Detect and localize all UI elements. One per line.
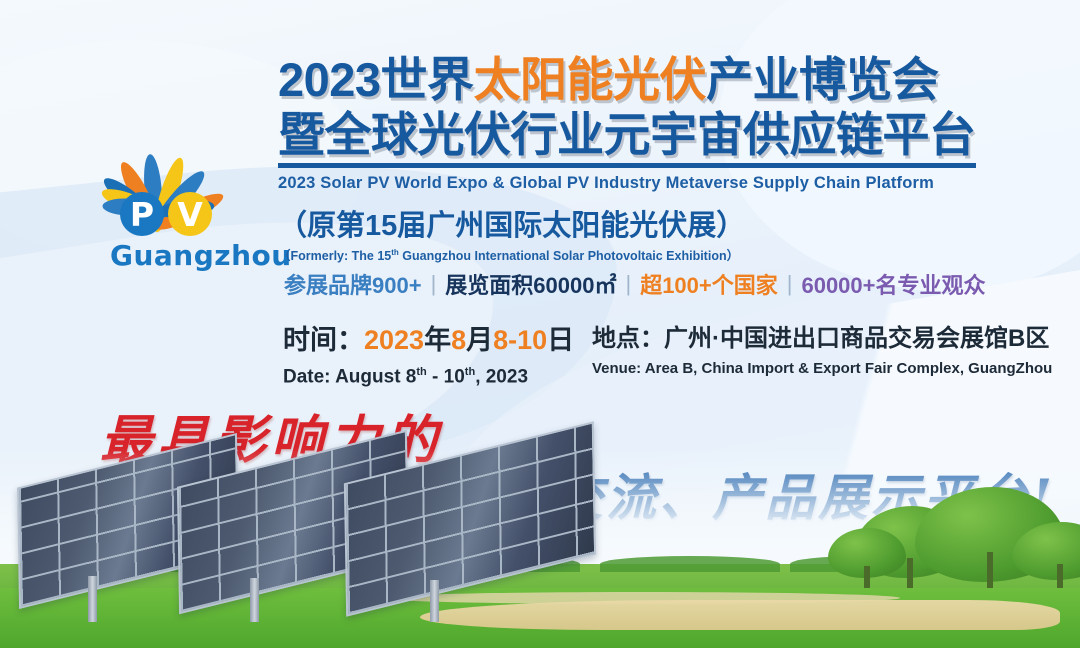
date-en-ordinal-1: th xyxy=(416,366,426,378)
date-en-mid: - 10 xyxy=(427,366,465,387)
former-name-chinese: （原第15届广州国际太阳能光伏展） xyxy=(278,202,1050,244)
logo-letter-v: V xyxy=(168,192,212,236)
tree-trunk xyxy=(907,558,913,592)
title-line-1-part-3: 产业博览会 xyxy=(706,53,939,106)
stat-area: 展览面积60000㎡ xyxy=(445,268,616,300)
subtitle-english: 2023 Solar PV World Expo & Global PV Ind… xyxy=(278,174,1050,193)
pv-guangzhou-logo: P V Guangzhou xyxy=(38,42,288,242)
tree-4 xyxy=(828,516,906,592)
date-english: Date: August 8th - 10th, 2023 xyxy=(283,359,574,390)
venue-chinese: 地点：广州·中国进出口商品交易会展馆B区 xyxy=(592,323,1052,355)
stat-separator-1: | xyxy=(431,271,437,297)
stat-visitors: 60000+名专业观众 xyxy=(801,268,985,300)
date-day-unit: 日 xyxy=(547,325,574,355)
former-name-english: （Formerly: The 15th Guangzhou Internatio… xyxy=(278,245,1050,264)
stat-countries: 超100+个国家 xyxy=(640,268,778,300)
date-year: 2023 xyxy=(364,325,424,355)
former-en-post: Guangzhou International Solar Photovolta… xyxy=(399,249,739,263)
panel-post xyxy=(88,576,97,622)
date-chinese: 时间：2023年8月8-10日 xyxy=(283,323,574,357)
date-label: 时间： xyxy=(283,325,364,355)
date-days: 8-10 xyxy=(493,325,547,355)
date-en-ordinal-2: th xyxy=(465,366,475,378)
stat-separator-2: | xyxy=(625,271,631,297)
logo-city-label: Guangzhou xyxy=(110,239,292,272)
stat-brands: 参展品牌900+ xyxy=(284,268,422,300)
hedge-3 xyxy=(600,556,780,572)
venue-english: Venue: Area B, China Import & Export Fai… xyxy=(592,358,1052,380)
date-month-unit: 月 xyxy=(466,325,493,355)
venue-value-chinese: 广州·中国进出口商品交易会展馆B区 xyxy=(664,325,1049,352)
title-line-1-part-1: 2023世界 xyxy=(278,53,474,106)
tree-crown xyxy=(1012,522,1080,580)
headline-block: 2023世界太阳能光伏产业博览会 暨全球光伏行业元宇宙供应链平台 2023 So… xyxy=(278,52,1050,264)
date-block: 时间：2023年8月8-10日 Date: August 8th - 10th,… xyxy=(283,323,574,390)
date-month: 8 xyxy=(451,325,466,355)
former-en-pre: （Formerly: The 15 xyxy=(278,249,391,263)
date-en-post: , 2023 xyxy=(475,366,528,387)
venue-block: 地点：广州·中国进出口商品交易会展馆B区 Venue: Area B, Chin… xyxy=(592,323,1052,380)
venue-label: 地点： xyxy=(592,325,664,352)
date-year-unit: 年 xyxy=(424,325,451,355)
stats-row: 参展品牌900+ | 展览面积60000㎡ | 超100+个国家 | 60000… xyxy=(284,268,986,300)
title-line-2: 暨全球光伏行业元宇宙供应链平台 xyxy=(278,107,976,168)
scenery-illustration xyxy=(0,448,1080,648)
stat-separator-3: | xyxy=(787,271,793,297)
date-en-pre: Date: August 8 xyxy=(283,366,416,387)
panel-post xyxy=(250,578,259,622)
expo-promo-banner: P V Guangzhou 2023世界太阳能光伏产业博览会 暨全球光伏行业元宇… xyxy=(0,0,1080,648)
title-line-1: 2023世界太阳能光伏产业博览会 xyxy=(278,52,1050,107)
pv-lettermark: P V xyxy=(120,192,212,236)
dirt-path xyxy=(420,600,1060,630)
tree-3 xyxy=(1012,506,1080,594)
logo-letter-p: P xyxy=(120,192,164,236)
panel-post xyxy=(430,580,439,622)
former-en-ordinal: th xyxy=(391,248,399,257)
title-line-1-part-2: 太阳能光伏 xyxy=(474,53,707,106)
